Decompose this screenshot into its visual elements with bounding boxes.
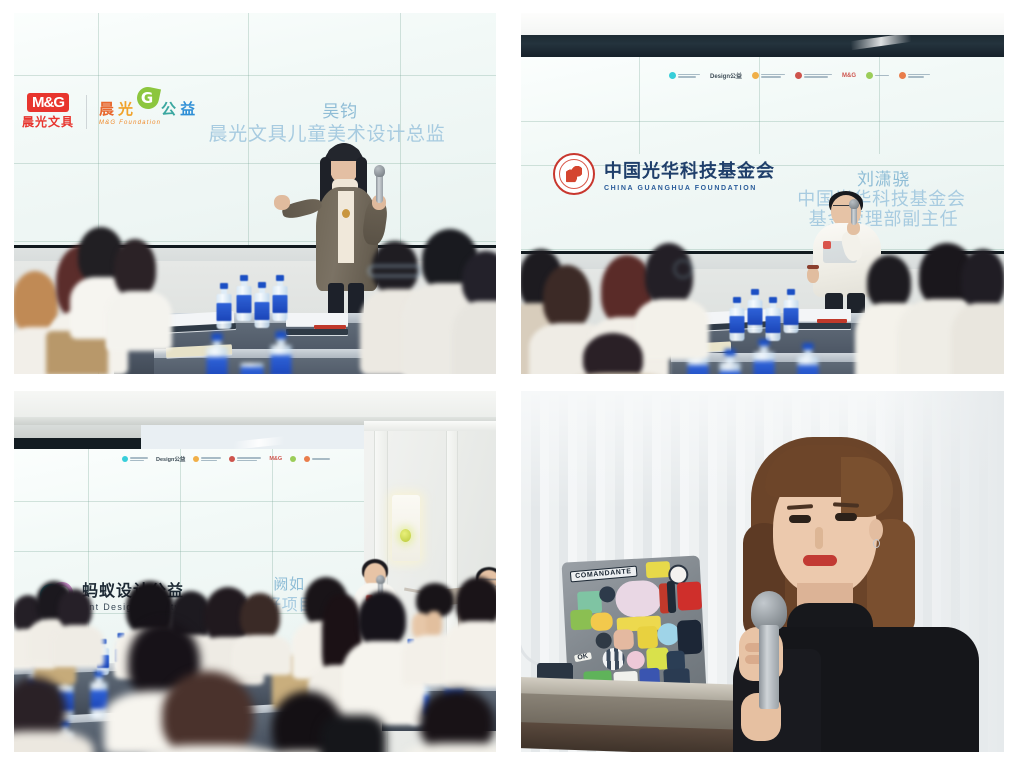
ok-sticker: OK [574, 652, 592, 662]
guanghua-chinese: 中国光华科技基金会 [604, 157, 775, 183]
partner-logo-7 [304, 456, 330, 462]
partner-logo-strip: Design公益 M&G [669, 71, 930, 80]
sticker-covered-laptop: COMANDANTE OK [562, 555, 707, 698]
water-bottle [216, 283, 232, 329]
partner-logo-strip: Design公益 M&G [122, 455, 330, 463]
speaker-portrait [729, 427, 979, 752]
partner-logo-3 [193, 456, 221, 462]
mg-badge-text: M&G [27, 93, 69, 112]
slide-speaker-role: 晨光文具儿童美术设计总监 [164, 119, 490, 146]
partner-logo-3 [752, 72, 785, 79]
partner-logo-7 [899, 72, 930, 79]
water-bottle [729, 297, 745, 341]
partner-logo-5: M&G [842, 73, 856, 79]
guanghua-foundation-logo: 中国光华科技基金会 CHINA GUANGHUA FOUNDATION [553, 153, 775, 195]
sconce-bulb-icon [400, 529, 411, 542]
wall-sconce [392, 495, 420, 561]
guanghua-english: CHINA GUANGHUA FOUNDATION [604, 185, 775, 192]
partner-logo-1 [122, 456, 148, 462]
logo-divider [86, 95, 87, 129]
mg-chinese-text: 晨光文具 [22, 113, 74, 130]
partner-logo-2: Design公益 [156, 455, 185, 463]
partner-logo-4 [795, 72, 832, 79]
photo-top-left[interactable]: M&G 晨光文具 晨 光 G 公 益 M&G Foundation [14, 13, 496, 374]
partner-logo-6 [290, 456, 296, 462]
partner-logo-6 [866, 72, 889, 79]
photo-bottom-right[interactable]: COMANDANTE OK [521, 391, 1004, 752]
leaf-icon: G [135, 85, 161, 111]
partner-logo-2: Design公益 [710, 71, 742, 80]
partner-logo-5: M&G [269, 456, 282, 462]
photo-top-right[interactable]: Design公益 M&G [521, 13, 1004, 374]
mg-foundation-english: M&G Foundation [99, 120, 161, 126]
guanghua-seal-icon [553, 153, 595, 195]
comandante-sticker: COMANDANTE [570, 566, 637, 583]
mg-stationery-logo: M&G 晨光文具 [22, 93, 74, 130]
partner-logo-4 [229, 456, 261, 462]
partner-logo-1 [669, 72, 700, 79]
photo-collage: M&G 晨光文具 晨 光 G 公 益 M&G Foundation [0, 0, 1018, 764]
microphone-body [759, 625, 779, 709]
photo-bottom-left[interactable]: Design公益 M&G [14, 391, 496, 752]
